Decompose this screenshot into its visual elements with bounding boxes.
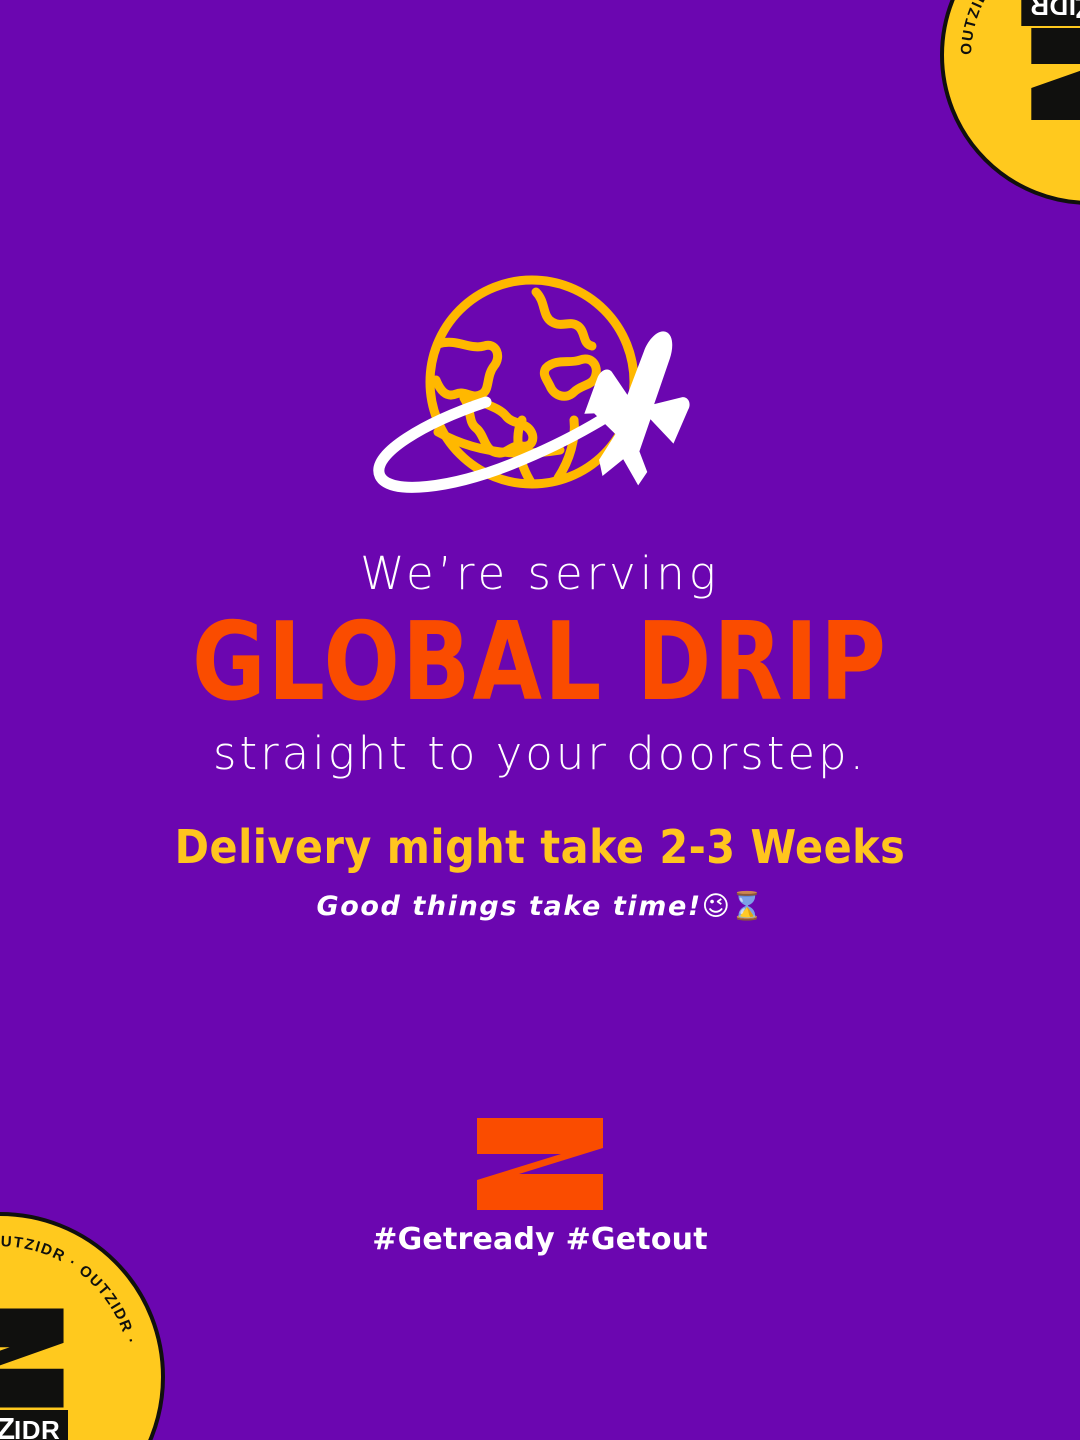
wordmark-suffix: IDR [14, 1415, 60, 1440]
delivery-subtext: Good things take time! [316, 891, 701, 922]
globe-airplane-icon [360, 272, 710, 512]
delivery-subtext-row: Good things take time!😉⌛ [0, 891, 1080, 923]
hourglass-emoji-icon: ⌛ [730, 891, 764, 922]
brand-z-logo-icon [477, 1118, 603, 1210]
wordmark-suffix: IDR [1030, 0, 1076, 21]
badge-center-top-right: OUTZIDR [1022, 0, 1080, 122]
brand-z-icon [1025, 26, 1080, 122]
headline-line-3: straight to your doorstep. [0, 728, 1080, 780]
poster-canvas: OUTZIDR · OUTZIDR · OUTZIDR · OUTZIDR · … [0, 0, 1080, 1440]
headline-block: We’re serving GLOBAL DRIP straight to yo… [0, 548, 1080, 780]
badge-center-bottom-left: OUTZIDR [0, 1306, 70, 1440]
wordmark-z: Z [1076, 0, 1080, 25]
badge-wordmark-top-right: OUTZIDR [1022, 0, 1080, 26]
wordmark-z: Z [0, 1411, 14, 1440]
delivery-block: Delivery might take 2-3 Weeks Good thing… [0, 820, 1080, 924]
footer-block: #Getready #Getout [0, 1118, 1080, 1257]
wink-face-emoji-icon: 😉 [702, 891, 730, 922]
footer-hashtags: #Getready #Getout [0, 1222, 1080, 1257]
badge-top-right: OUTZIDR · OUTZIDR · OUTZIDR · OUTZIDR · … [940, 0, 1080, 205]
brand-z-icon [0, 1306, 70, 1410]
badge-wordmark-bottom-left: OUTZIDR [0, 1410, 68, 1440]
delivery-headline: Delivery might take 2-3 Weeks [0, 820, 1080, 875]
headline-line-2: GLOBAL DRIP [0, 608, 1080, 716]
headline-line-1: We’re serving [0, 548, 1080, 600]
